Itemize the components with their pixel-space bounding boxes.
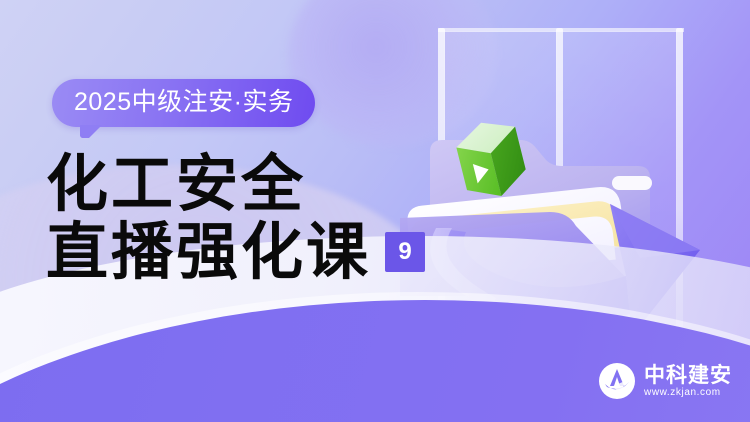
headline-block: 化工安全 直播强化课 9 bbox=[46, 150, 466, 286]
episode-number-badge: 9 bbox=[385, 232, 425, 272]
zkjan-logo-icon bbox=[598, 362, 636, 400]
course-promo-banner: 2025中级注安·实务 化工安全 直播强化课 9 中科建安 www.zkjan.… bbox=[0, 0, 750, 422]
logo-website-url: www.zkjan.com bbox=[644, 388, 732, 398]
logo-text-block: 中科建安 www.zkjan.com bbox=[644, 365, 732, 398]
headline-line-2: 直播强化课 bbox=[46, 218, 371, 286]
headline-line-2-row: 直播强化课 9 bbox=[46, 218, 466, 286]
subtitle-pill-wrapper: 2025中级注安·实务 bbox=[52, 79, 315, 127]
brand-logo[interactable]: 中科建安 www.zkjan.com bbox=[598, 362, 732, 400]
logo-company-name: 中科建安 bbox=[644, 365, 732, 386]
subtitle-pill: 2025中级注安·实务 bbox=[52, 79, 315, 127]
subtitle-pill-label: 2025中级注安·实务 bbox=[74, 90, 293, 115]
subtitle-pill-tail-icon bbox=[80, 125, 102, 138]
headline-line-1: 化工安全 bbox=[46, 150, 466, 218]
